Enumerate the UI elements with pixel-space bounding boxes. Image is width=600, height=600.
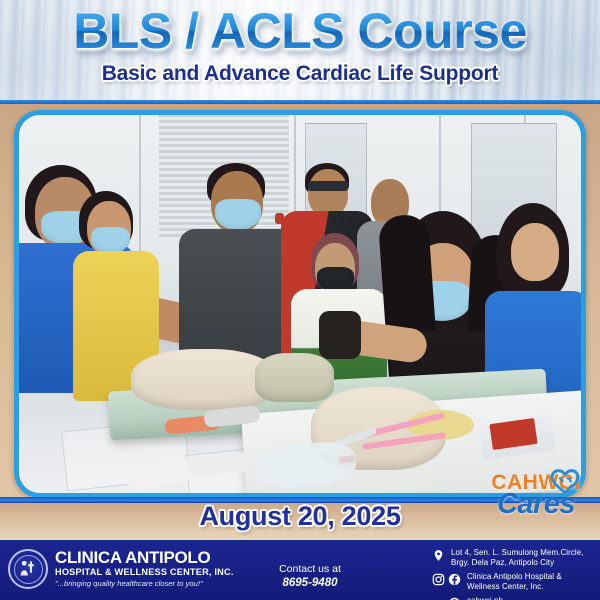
brand-name: CLINICA ANTIPOLO <box>55 549 234 567</box>
social-name-text: Clinica Antipolo Hospital & Wellness Cen… <box>467 572 596 593</box>
contact-label: Contact us at <box>258 562 362 576</box>
website-text[interactable]: cahwci.ph <box>467 596 503 600</box>
heart-icon <box>550 468 580 494</box>
info-row-address: Lot 4, Sen. L. Sumulong Mem.Circle, Brgy… <box>432 548 596 569</box>
info-row-website: cahwci.ph <box>432 596 596 600</box>
title-block: BLS / ACLS Course Basic and Advance Card… <box>0 6 600 86</box>
footer: CLINICA ANTIPOLO HOSPITAL & WELLNESS CEN… <box>0 540 600 600</box>
header-divider <box>0 100 600 104</box>
globe-icon[interactable] <box>448 597 461 600</box>
facebook-icon[interactable] <box>448 573 461 586</box>
brand-subname: HOSPITAL & WELLNESS CENTER, INC. <box>55 567 234 579</box>
clinic-seal-icon <box>8 549 48 589</box>
page-title: BLS / ACLS Course <box>0 6 600 56</box>
location-pin-icon <box>432 549 445 562</box>
poster: BLS / ACLS Course Basic and Advance Card… <box>0 0 600 600</box>
cahwci-cares-badge: CAHWCI Cares <box>478 472 594 519</box>
page-subtitle: Basic and Advance Cardiac Life Support <box>0 62 600 86</box>
brand-tagline: "...bringing quality healthcare closer t… <box>55 579 234 589</box>
brand-block: CLINICA ANTIPOLO HOSPITAL & WELLNESS CEN… <box>8 549 234 589</box>
contact-number[interactable]: 8695-9480 <box>258 576 362 592</box>
cares-badge-bottom: Cares <box>478 490 594 519</box>
training-photo <box>14 110 586 498</box>
address-text: Lot 4, Sen. L. Sumulong Mem.Circle, Brgy… <box>451 548 596 569</box>
photo-scene <box>19 115 581 493</box>
info-row-social: Clinica Antipolo Hospital & Wellness Cen… <box>432 572 596 593</box>
info-block: Lot 4, Sen. L. Sumulong Mem.Circle, Brgy… <box>432 548 596 600</box>
seal-figure-icon <box>19 559 38 576</box>
contact-block: Contact us at 8695-9480 <box>258 562 362 592</box>
instagram-icon[interactable] <box>432 573 445 586</box>
